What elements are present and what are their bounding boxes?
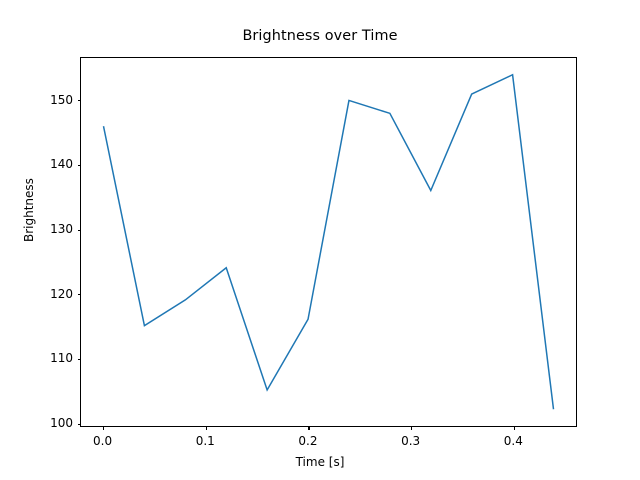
y-tick-mark bbox=[78, 165, 82, 166]
y-tick-label: 140 bbox=[38, 157, 73, 171]
y-tick-mark bbox=[78, 424, 82, 425]
y-tick-label: 110 bbox=[38, 351, 73, 365]
x-tick-mark bbox=[411, 426, 412, 430]
x-tick-mark bbox=[514, 426, 515, 430]
y-tick-label: 150 bbox=[38, 93, 73, 107]
y-tick-mark bbox=[78, 359, 82, 360]
x-tick-mark bbox=[206, 426, 207, 430]
chart-figure: Brightness over Time Brightness Time [s]… bbox=[0, 0, 640, 480]
x-tick-label: 0.3 bbox=[401, 434, 420, 448]
plot-area bbox=[80, 57, 577, 427]
y-tick-mark bbox=[78, 230, 82, 231]
data-series-line bbox=[103, 75, 553, 410]
y-tick-label: 120 bbox=[38, 287, 73, 301]
x-axis-label: Time [s] bbox=[0, 455, 640, 469]
y-tick-label: 100 bbox=[38, 416, 73, 430]
line-plot-svg bbox=[81, 58, 576, 426]
x-tick-label: 0.4 bbox=[504, 434, 523, 448]
x-tick-label: 0.0 bbox=[93, 434, 112, 448]
y-tick-mark bbox=[78, 100, 82, 101]
chart-title: Brightness over Time bbox=[0, 28, 640, 44]
x-tick-mark bbox=[103, 426, 104, 430]
y-tick-label: 130 bbox=[38, 222, 73, 236]
x-tick-label: 0.1 bbox=[196, 434, 215, 448]
y-axis-label: Brightness bbox=[22, 178, 36, 242]
x-tick-label: 0.2 bbox=[298, 434, 317, 448]
x-tick-mark bbox=[308, 426, 309, 430]
y-tick-mark bbox=[78, 294, 82, 295]
